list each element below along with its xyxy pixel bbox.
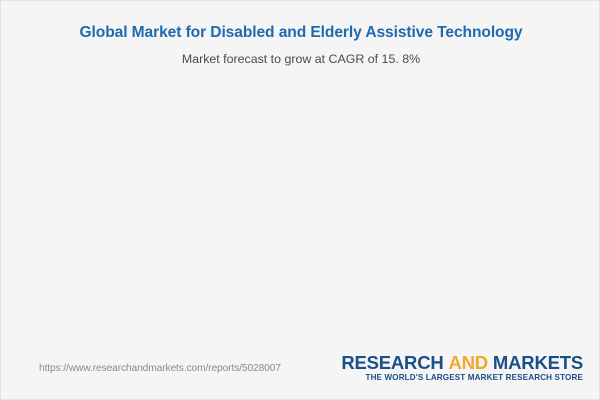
brand-word-and: AND (448, 352, 487, 373)
chart-footer: https://www.researchandmarkets.com/repor… (1, 346, 600, 400)
brand-word-markets: MARKETS (493, 352, 583, 373)
infographic-card: Global Market for Disabled and Elderly A… (0, 0, 600, 400)
chart-plot-area: USD 26.81 Billion (1, 1, 600, 346)
brand-tagline: THE WORLD'S LARGEST MARKET RESEARCH STOR… (341, 373, 583, 382)
report-url[interactable]: https://www.researchandmarkets.com/repor… (39, 363, 281, 374)
brand-wordmark: RESEARCH AND MARKETS (341, 353, 583, 372)
brand-logo[interactable]: RESEARCH AND MARKETS THE WORLD'S LARGEST… (341, 353, 583, 382)
brand-word-research: RESEARCH (341, 352, 443, 373)
